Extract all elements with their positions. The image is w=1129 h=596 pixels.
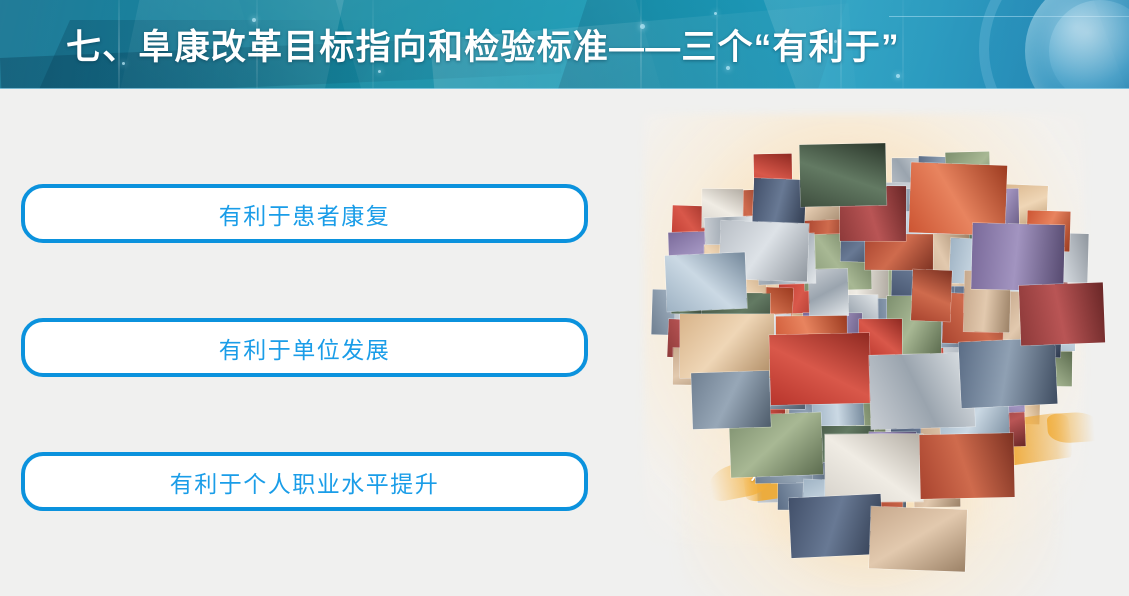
collage-photo-tile — [958, 338, 1057, 409]
collage-photo-tile — [971, 223, 1065, 291]
collage-photo-tile — [911, 269, 952, 322]
collage-photo-tile — [825, 434, 923, 502]
collage-photo-tile — [869, 506, 967, 571]
collage-tiles — [620, 104, 1129, 596]
goal-pill-3[interactable]: 有利于个人职业水平提升 — [21, 452, 588, 511]
slide-canvas: 七、阜康改革目标指向和检验标准——三个“有利于” 有利于患者康复 有利于单位发展… — [0, 0, 1129, 596]
collage-photo-tile — [919, 433, 1014, 499]
heart-photo-collage: 患者需求至上，团队精诚协作！ — [620, 104, 1129, 596]
collage-photo-tile — [680, 314, 774, 378]
collage-photo-tile — [665, 252, 747, 311]
collage-photo-tile — [769, 333, 871, 405]
page-title: 七、阜康改革目标指向和检验标准——三个“有利于” — [0, 0, 1129, 89]
goal-pill-1[interactable]: 有利于患者康复 — [21, 184, 588, 243]
header-banner: 七、阜康改革目标指向和检验标准——三个“有利于” — [0, 0, 1129, 89]
collage-photo-tile — [691, 371, 771, 430]
collage-photo-tile — [1019, 282, 1105, 345]
collage-photo-tile — [799, 143, 886, 207]
goal-pill-2[interactable]: 有利于单位发展 — [21, 318, 588, 377]
